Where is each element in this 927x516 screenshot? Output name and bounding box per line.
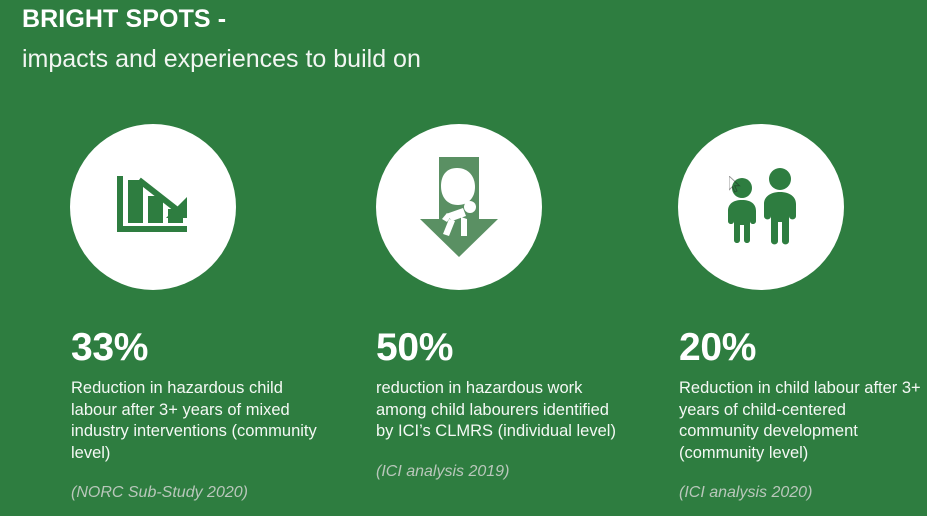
stat-icon-circle-3 [678,124,844,290]
stat-source-3: (ICI analysis 2020) [679,482,927,503]
declining-bar-chart-icon [117,176,189,238]
stat-source-2: (ICI analysis 2019) [376,461,621,482]
page-title: BRIGHT SPOTS - [22,4,882,34]
stat-description-3: Reduction in child labour after 3+ years… [679,378,927,464]
stat-source-1: (NORC Sub-Study 2020) [71,482,319,503]
stat-icon-circle-2 [376,124,542,290]
stat-column-1: 33% Reduction in hazardous child labour … [71,326,319,503]
down-arrow-child-labourer-icon [420,157,498,257]
stat-description-2: reduction in hazardous work among child … [376,378,621,443]
slide-canvas: BRIGHT SPOTS - impacts and experiences t… [0,0,927,516]
stat-number-1: 33% [71,326,319,370]
page-subtitle: impacts and experiences to build on [22,43,882,75]
stat-description-1: Reduction in hazardous child labour afte… [71,378,319,464]
stat-column-3: 20% Reduction in child labour after 3+ y… [679,326,927,503]
two-children-icon [720,168,802,246]
stat-icon-circle-1 [70,124,236,290]
stat-number-3: 20% [679,326,927,370]
title-block: BRIGHT SPOTS - impacts and experiences t… [22,4,882,75]
stat-column-2: 50% reduction in hazardous work among ch… [376,326,621,482]
stat-number-2: 50% [376,326,621,370]
